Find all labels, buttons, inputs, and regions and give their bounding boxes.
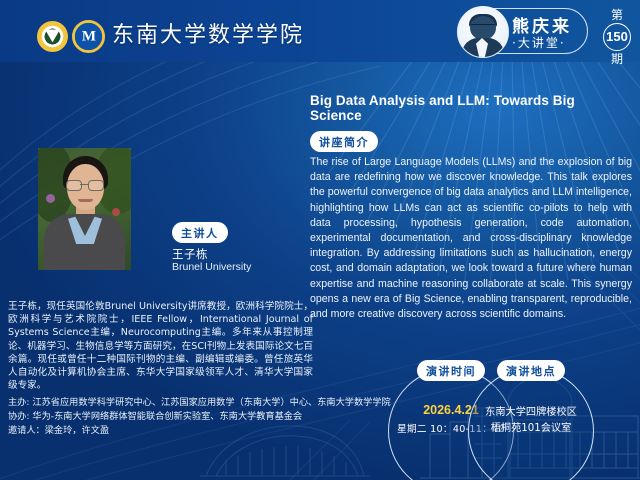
speaker-label-pill: 主讲人: [172, 222, 228, 243]
organizer-cohost: 协办: 华为-东南大学网络群体智能联合创新实验室、东南大学教育基金会: [8, 410, 328, 424]
issue-prefix: 第: [600, 8, 634, 22]
organizer-host: 主办: 江苏省应用数学科学研究中心、江苏国家应用数学（东南大学）中心、东南大学数…: [8, 396, 328, 410]
speaker-photo: [38, 148, 131, 270]
talk-abstract: The rise of Large Language Models (LLMs)…: [310, 155, 632, 322]
issue-number-block: 第 150 期: [600, 8, 634, 66]
abstract-section-label: 讲座简介: [310, 131, 378, 152]
poster-header: M 东南大学数学学院 熊庆来 ·大讲堂· 第 150 期: [0, 0, 640, 62]
speaker-affiliation: Brunel University: [172, 261, 251, 273]
lecture-venue-label: 演讲地点: [497, 360, 565, 381]
university-name: 东南大学数学学院: [112, 17, 304, 49]
jiangsu-center-seal-icon: [37, 21, 68, 52]
lecture-venue-room: 梧桐苑101会议室: [469, 419, 593, 434]
lecture-venue-campus: 东南大学四牌楼校区: [469, 403, 593, 418]
lecture-series-subtitle: ·大讲堂·: [512, 34, 566, 51]
speaker-name: 王子栋: [172, 246, 208, 262]
organizer-inviter: 邀请人：梁金玲，许文盈: [8, 424, 328, 438]
speaker-bio: 王子栋，现任英国伦敦Brunel University讲席教授，欧洲科学院院士，…: [8, 300, 313, 392]
seu-math-seal-icon: M: [72, 20, 105, 53]
organizers-block: 主办: 江苏省应用数学科学研究中心、江苏国家应用数学（东南大学）中心、东南大学数…: [8, 396, 328, 438]
issue-number: 150: [603, 23, 631, 51]
xiong-qinglai-portrait-icon: [457, 6, 509, 58]
poster-canvas: M 东南大学数学学院 熊庆来 ·大讲堂· 第 150 期 Big Data An…: [0, 0, 640, 480]
talk-title: Big Data Analysis and LLM: Towards Big S…: [310, 93, 630, 123]
issue-suffix: 期: [600, 52, 634, 66]
lecture-venue-circle: 演讲地点 东南大学四牌楼校区 梧桐苑101会议室: [468, 368, 594, 480]
abstract-label-pill: 讲座简介: [310, 131, 378, 152]
lecture-time-label: 演讲时间: [417, 360, 485, 381]
speaker-section-label: 主讲人: [172, 222, 228, 243]
